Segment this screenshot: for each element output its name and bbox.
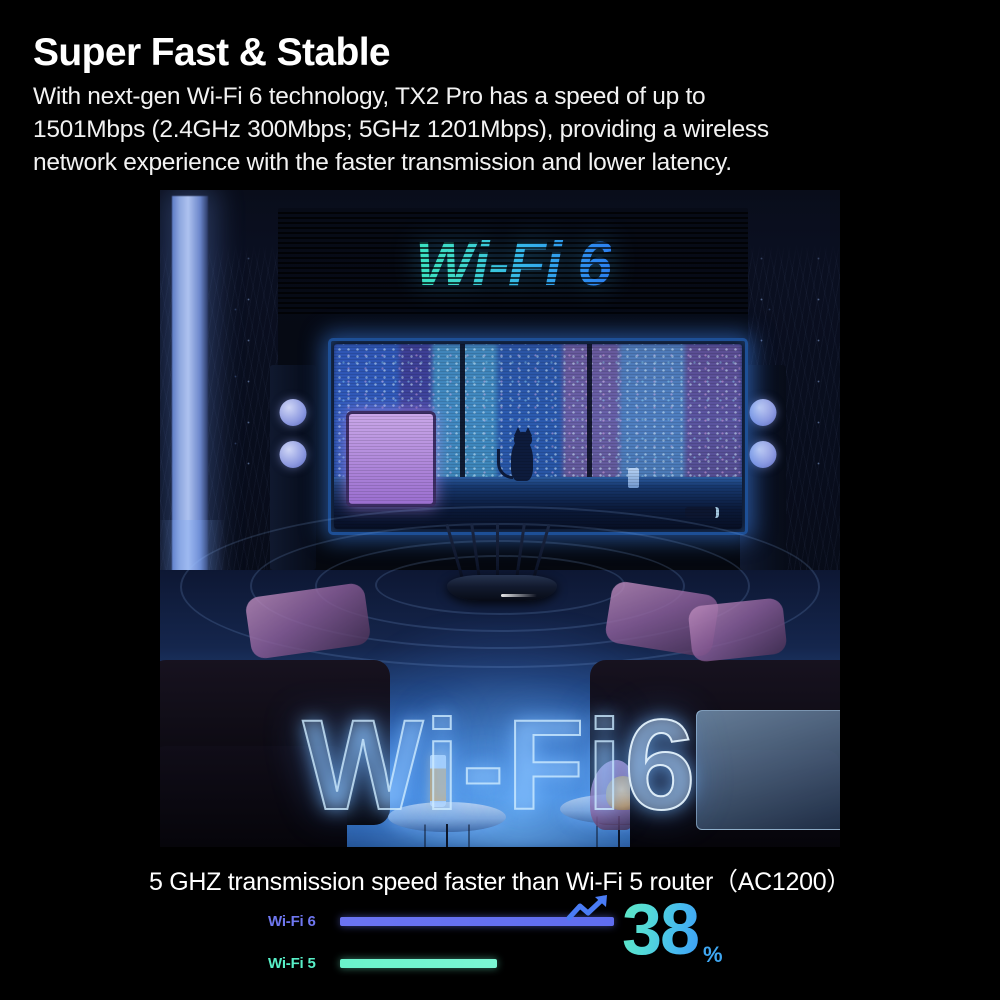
header-description-line-1: With next-gen Wi-Fi 6 technology, TX2 Pr… <box>33 80 983 113</box>
chart-row-wifi5: Wi-Fi 5 <box>268 955 497 972</box>
router-antenna <box>515 523 526 579</box>
speaker-driver-icon <box>750 441 777 468</box>
router-antenna <box>532 524 550 579</box>
router-led-strip <box>501 594 537 597</box>
router-antenna <box>470 523 481 579</box>
header-description-line-3: network experience with the faster trans… <box>33 146 983 179</box>
speaker-driver-icon <box>750 399 777 426</box>
percent-value: 38 <box>622 896 698 964</box>
header-block: Super Fast & Stable With next-gen Wi-Fi … <box>33 33 983 179</box>
product-scene-photo: Wi-Fi 6 <box>160 190 840 847</box>
neon-sign-text: Wi-Fi 6 <box>415 229 611 300</box>
router-body <box>447 575 557 601</box>
header-description: With next-gen Wi-Fi 6 technology, TX2 Pr… <box>33 80 983 179</box>
wall-mounted-tv <box>328 338 748 535</box>
tv-screen <box>334 344 742 529</box>
promo-page: Super Fast & Stable With next-gen Wi-Fi … <box>0 0 1000 1000</box>
speed-comparison-chart: Wi-Fi 6 Wi-Fi 5 38 % <box>0 898 1000 994</box>
router-antenna <box>496 523 499 579</box>
glass-panel <box>696 710 840 830</box>
beer-glass <box>430 755 446 807</box>
armchair-left <box>160 746 347 847</box>
footer-caption: 5 GHZ transmission speed faster than Wi-… <box>0 862 1000 898</box>
speaker-driver-icon <box>280 399 307 426</box>
chart-bar-wifi5 <box>340 959 497 968</box>
side-table-left <box>388 802 506 832</box>
neon-sign: Wi-Fi 6 <box>278 212 748 317</box>
table-legs <box>446 824 448 847</box>
chart-label-wifi6: Wi-Fi 6 <box>268 913 332 930</box>
header-description-line-2: 1501Mbps (2.4GHz 300Mbps; 5GHz 1201Mbps)… <box>33 113 983 146</box>
tv-scanlines <box>334 344 742 529</box>
speaker-driver-icon <box>280 441 307 468</box>
chart-row-wifi6: Wi-Fi 6 <box>268 913 614 930</box>
router-antenna <box>445 524 463 579</box>
percent-sign: % <box>703 942 723 968</box>
page-title: Super Fast & Stable <box>33 33 983 74</box>
sofa-cushion <box>687 597 787 663</box>
wifi-router <box>447 523 557 611</box>
chart-label-wifi5: Wi-Fi 5 <box>268 955 332 972</box>
trending-up-arrow-icon <box>566 894 614 924</box>
